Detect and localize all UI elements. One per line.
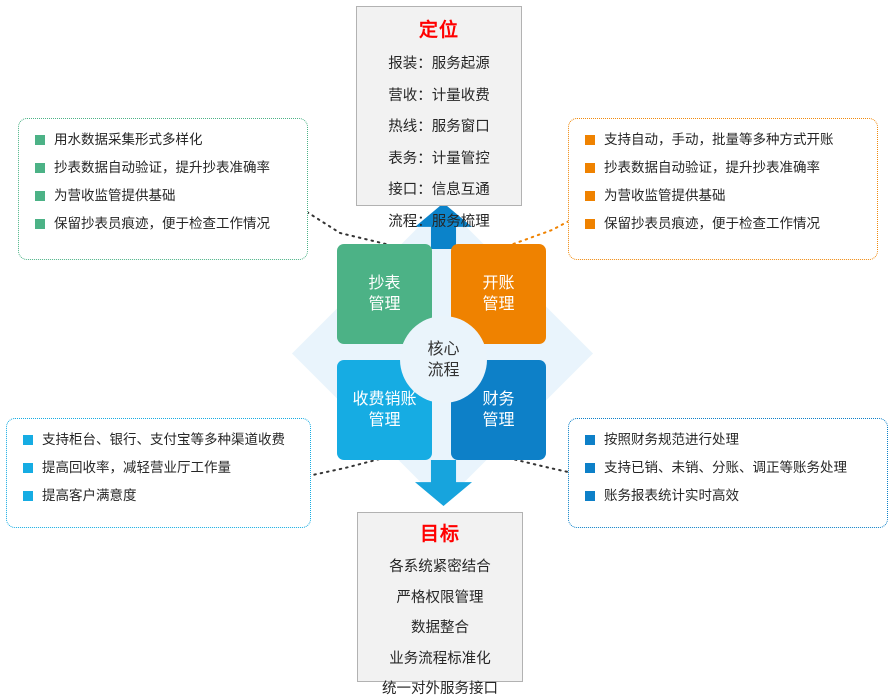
- panel-goals-title: 目标: [358, 525, 522, 544]
- bullet-square-icon: [23, 463, 33, 473]
- quadrant-label-line1: 财务: [482, 389, 514, 408]
- bullet-square-icon: [35, 135, 45, 145]
- feature-item-text: 账务报表统计实时高效: [604, 489, 739, 504]
- quadrant-label: 开账 管理: [482, 273, 514, 315]
- core-label-line2: 流程: [427, 360, 459, 379]
- feature-item: 提高客户满意度: [23, 489, 296, 504]
- panel-positioning-line: 报装：服务起源: [357, 57, 521, 72]
- feature-item-text: 抄表数据自动验证，提升抄表准确率: [54, 161, 270, 176]
- panel-goals-line: 数据整合: [358, 621, 522, 636]
- bullet-square-icon: [23, 491, 33, 501]
- quadrant-label-line1: 抄表: [368, 273, 400, 292]
- feature-item-text: 抄表数据自动验证，提升抄表准确率: [604, 161, 820, 176]
- core-label-line1: 核心: [427, 339, 459, 358]
- bullet-square-icon: [585, 163, 595, 173]
- bullet-square-icon: [585, 191, 595, 201]
- feature-item: 账务报表统计实时高效: [585, 489, 873, 504]
- panel-goals-line: 严格权限管理: [358, 591, 522, 606]
- feature-item: 为营收监管提供基础: [585, 189, 863, 204]
- feature-item: 为营收监管提供基础: [35, 189, 293, 204]
- feature-item-text: 用水数据采集形式多样化: [54, 133, 203, 148]
- bullet-square-icon: [35, 163, 45, 173]
- feature-item: 抄表数据自动验证，提升抄表准确率: [585, 161, 863, 176]
- feature-item-text: 保留抄表员痕迹，便于检查工作情况: [54, 217, 270, 232]
- feature-item: 抄表数据自动验证，提升抄表准确率: [35, 161, 293, 176]
- quadrant-label-line2: 管理: [482, 294, 514, 313]
- feature-item-text: 保留抄表员痕迹，便于检查工作情况: [604, 217, 820, 232]
- feature-item: 用水数据采集形式多样化: [35, 133, 293, 148]
- quadrant-label: 财务 管理: [482, 389, 514, 431]
- panel-positioning-line: 热线：服务窗口: [357, 120, 521, 135]
- feature-box-meter-reading: 用水数据采集形式多样化 抄表数据自动验证，提升抄表准确率 为营收监管提供基础 保…: [18, 118, 308, 260]
- panel-goals-line: 业务流程标准化: [358, 652, 522, 667]
- quadrant-label-line1: 收费销账: [352, 389, 416, 408]
- panel-positioning-line: 接口：信息互通: [357, 183, 521, 198]
- core-process-circle: 核心 流程: [400, 316, 487, 403]
- feature-item-text: 提高客户满意度: [42, 489, 137, 504]
- feature-item-text: 为营收监管提供基础: [604, 189, 726, 204]
- diagram-canvas: 抄表 管理 开账 管理 收费销账 管理 财务 管理 核心 流程 定位 报装：服务…: [0, 0, 896, 687]
- feature-item-text: 为营收监管提供基础: [54, 189, 176, 204]
- bullet-square-icon: [585, 463, 595, 473]
- feature-item-text: 支持已销、未销、分账、调正等账务处理: [604, 461, 847, 476]
- feature-item-text: 支持柜台、银行、支付宝等多种渠道收费: [42, 433, 285, 448]
- panel-positioning-title: 定位: [357, 21, 521, 40]
- panel-positioning-line: 流程：服务梳理: [357, 215, 521, 230]
- feature-item: 提高回收率，减轻营业厅工作量: [23, 461, 296, 476]
- bullet-square-icon: [585, 435, 595, 445]
- quadrant-label-line2: 管理: [482, 410, 514, 429]
- quadrant-label-line2: 管理: [368, 410, 400, 429]
- bullet-square-icon: [35, 219, 45, 229]
- panel-goals-line: 统一对外服务接口: [358, 682, 522, 697]
- quadrant-label: 收费销账 管理: [352, 389, 416, 431]
- feature-item-text: 按照财务规范进行处理: [604, 433, 739, 448]
- feature-box-payment-settlement: 支持柜台、银行、支付宝等多种渠道收费 提高回收率，减轻营业厅工作量 提高客户满意…: [6, 418, 311, 528]
- feature-item: 保留抄表员痕迹，便于检查工作情况: [585, 217, 863, 232]
- bullet-square-icon: [23, 435, 33, 445]
- quadrant-label: 抄表 管理: [368, 273, 400, 315]
- feature-box-billing: 支持自动，手动，批量等多种方式开账 抄表数据自动验证，提升抄表准确率 为营收监管…: [568, 118, 878, 260]
- core-process-label: 核心 流程: [427, 339, 459, 381]
- feature-item: 支持自动，手动，批量等多种方式开账: [585, 133, 863, 148]
- feature-item-text: 提高回收率，减轻营业厅工作量: [42, 461, 231, 476]
- panel-positioning: 定位 报装：服务起源 营收：计量收费 热线：服务窗口 表务：计量管控 接口：信息…: [356, 6, 522, 206]
- panel-positioning-line: 表务：计量管控: [357, 152, 521, 167]
- feature-item: 支持柜台、银行、支付宝等多种渠道收费: [23, 433, 296, 448]
- panel-goals-line: 各系统紧密结合: [358, 560, 522, 575]
- bullet-square-icon: [35, 191, 45, 201]
- bullet-square-icon: [585, 135, 595, 145]
- feature-item: 按照财务规范进行处理: [585, 433, 873, 448]
- quadrant-label-line2: 管理: [368, 294, 400, 313]
- panel-goals: 目标 各系统紧密结合 严格权限管理 数据整合 业务流程标准化 统一对外服务接口: [357, 512, 523, 682]
- bullet-square-icon: [585, 491, 595, 501]
- feature-item: 支持已销、未销、分账、调正等账务处理: [585, 461, 873, 476]
- bullet-square-icon: [585, 219, 595, 229]
- panel-positioning-line: 营收：计量收费: [357, 89, 521, 104]
- feature-box-finance: 按照财务规范进行处理 支持已销、未销、分账、调正等账务处理 账务报表统计实时高效: [568, 418, 888, 528]
- feature-item: 保留抄表员痕迹，便于检查工作情况: [35, 217, 293, 232]
- quadrant-label-line1: 开账: [482, 273, 514, 292]
- feature-item-text: 支持自动，手动，批量等多种方式开账: [604, 133, 834, 148]
